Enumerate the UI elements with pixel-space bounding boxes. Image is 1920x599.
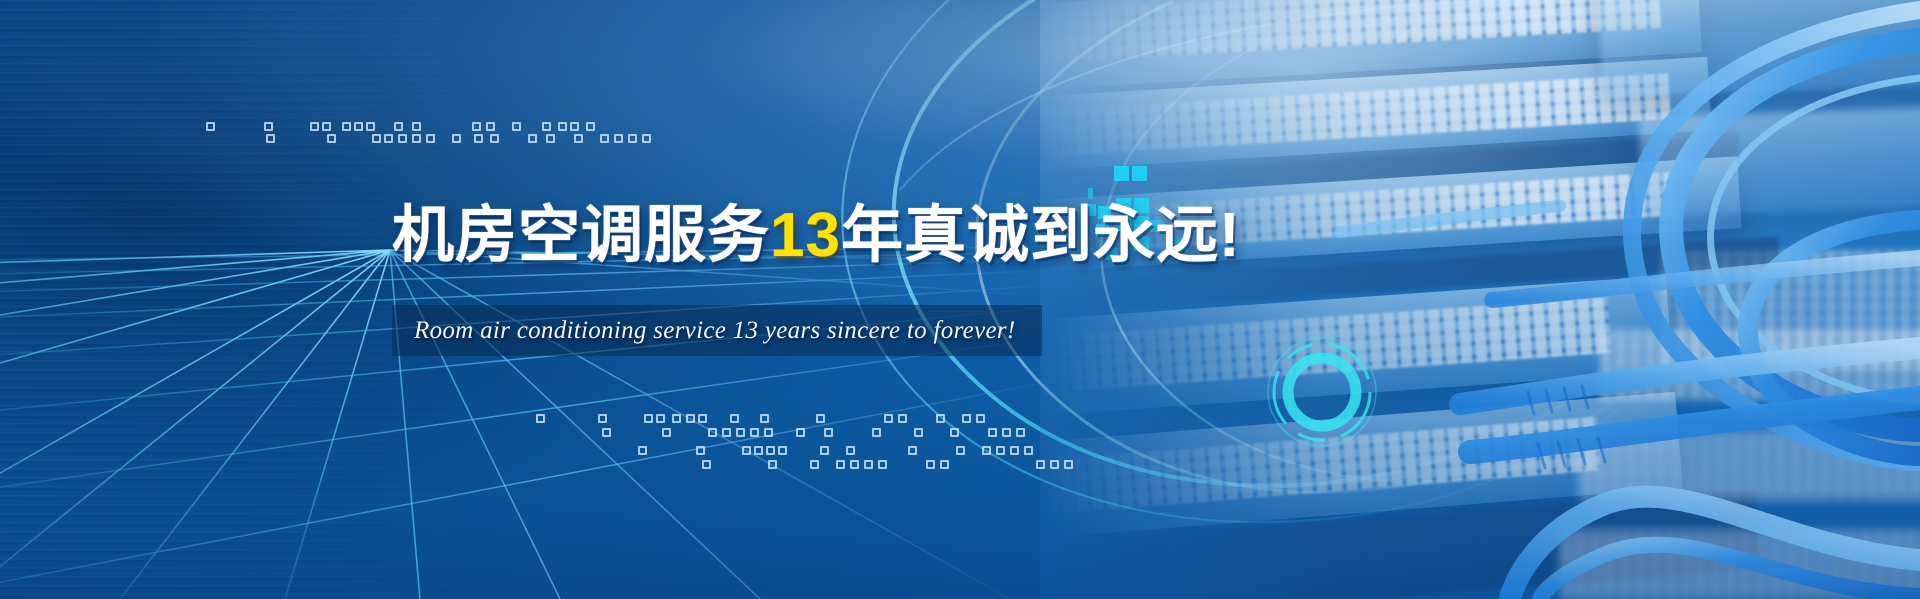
decor-square (426, 134, 435, 143)
decor-square (1036, 460, 1045, 469)
decor-square (412, 134, 421, 143)
decor-square (766, 446, 775, 455)
decor-square (598, 414, 607, 423)
decor-square (1016, 428, 1025, 437)
subtitle-band: Room air conditioning service 13 years s… (392, 305, 1042, 356)
headline-prefix: 机房空调服务 (392, 201, 770, 270)
decor-square (872, 428, 881, 437)
decor-square (836, 460, 845, 469)
decor-square (878, 460, 887, 469)
decor-square (722, 428, 731, 437)
decor-square (988, 428, 997, 437)
decor-square (322, 122, 331, 131)
decor-square (638, 446, 647, 455)
decor-square (956, 446, 965, 455)
decor-square (768, 460, 777, 469)
decor-square (1064, 460, 1073, 469)
decor-square (472, 122, 481, 131)
decor-square (558, 122, 567, 131)
decor-square (898, 414, 907, 423)
decor-square (398, 134, 407, 143)
decor-square (327, 134, 336, 143)
hollow-square-data-dots-top (190, 118, 670, 158)
decor-square (366, 122, 375, 131)
decor-square (702, 460, 711, 469)
decor-square (602, 428, 611, 437)
headline-suffix: 年真诚到永远! (841, 201, 1241, 270)
decor-square (950, 428, 959, 437)
decor-square (672, 414, 681, 423)
decor-square (574, 134, 583, 143)
decor-square (1024, 446, 1033, 455)
decor-square (940, 460, 949, 469)
decor-square (662, 428, 671, 437)
decor-square (570, 122, 579, 131)
subtitle-text: Room air conditioning service 13 years s… (392, 317, 1016, 345)
decor-square (206, 122, 215, 131)
decor-square (742, 446, 751, 455)
decor-square (914, 428, 923, 437)
decor-square (394, 122, 403, 131)
decor-square (884, 414, 893, 423)
decor-square (846, 446, 855, 455)
decor-square (962, 414, 971, 423)
decor-square (686, 414, 695, 423)
decor-square (486, 122, 495, 131)
hud-ring-icon (1262, 332, 1382, 452)
decor-square (600, 134, 609, 143)
decor-square (864, 460, 873, 469)
decor-square (736, 428, 745, 437)
decor-square (372, 134, 381, 143)
decor-square (384, 134, 393, 143)
decor-square (536, 414, 545, 423)
decor-square (730, 414, 739, 423)
decor-square (614, 134, 623, 143)
decor-square (542, 122, 551, 131)
decor-square (698, 414, 707, 423)
decor-square (644, 414, 653, 423)
headline-accent-number: 13 (770, 201, 841, 270)
decor-square (1010, 446, 1019, 455)
decor-square (754, 446, 763, 455)
decor-square (982, 446, 991, 455)
decor-square (824, 428, 833, 437)
decor-square (342, 122, 351, 131)
decor-square (810, 460, 819, 469)
decor-square (696, 446, 705, 455)
decor-square (778, 446, 787, 455)
decor-square (764, 428, 773, 437)
decor-square (908, 446, 917, 455)
decor-square (760, 414, 769, 423)
decor-square (310, 122, 319, 131)
decor-square (656, 414, 665, 423)
decor-square (628, 134, 637, 143)
decor-square (1050, 460, 1059, 469)
decor-square (816, 414, 825, 423)
hero-banner: 机房空调服务13年真诚到永远! Room air conditioning se… (0, 0, 1920, 599)
decor-square (264, 122, 273, 131)
decor-square (528, 134, 537, 143)
decor-square (976, 414, 985, 423)
decor-square (354, 122, 363, 131)
decor-square (512, 122, 521, 131)
decor-square (546, 134, 555, 143)
decor-square (642, 134, 651, 143)
decor-square (586, 122, 595, 131)
page-title: 机房空调服务13年真诚到永远! (392, 205, 1241, 267)
decor-square (1002, 428, 1011, 437)
decor-square (750, 428, 759, 437)
decor-square (796, 428, 805, 437)
decor-square (490, 134, 499, 143)
decor-square (474, 134, 483, 143)
decor-square (996, 446, 1005, 455)
hollow-square-data-dots-bottom (520, 408, 1100, 468)
decor-square (266, 134, 275, 143)
decor-square (452, 134, 461, 143)
decor-square (708, 428, 717, 437)
decor-square (412, 122, 421, 131)
decor-square (936, 414, 945, 423)
decor-square (820, 446, 829, 455)
decor-square (926, 460, 935, 469)
decor-square (850, 460, 859, 469)
